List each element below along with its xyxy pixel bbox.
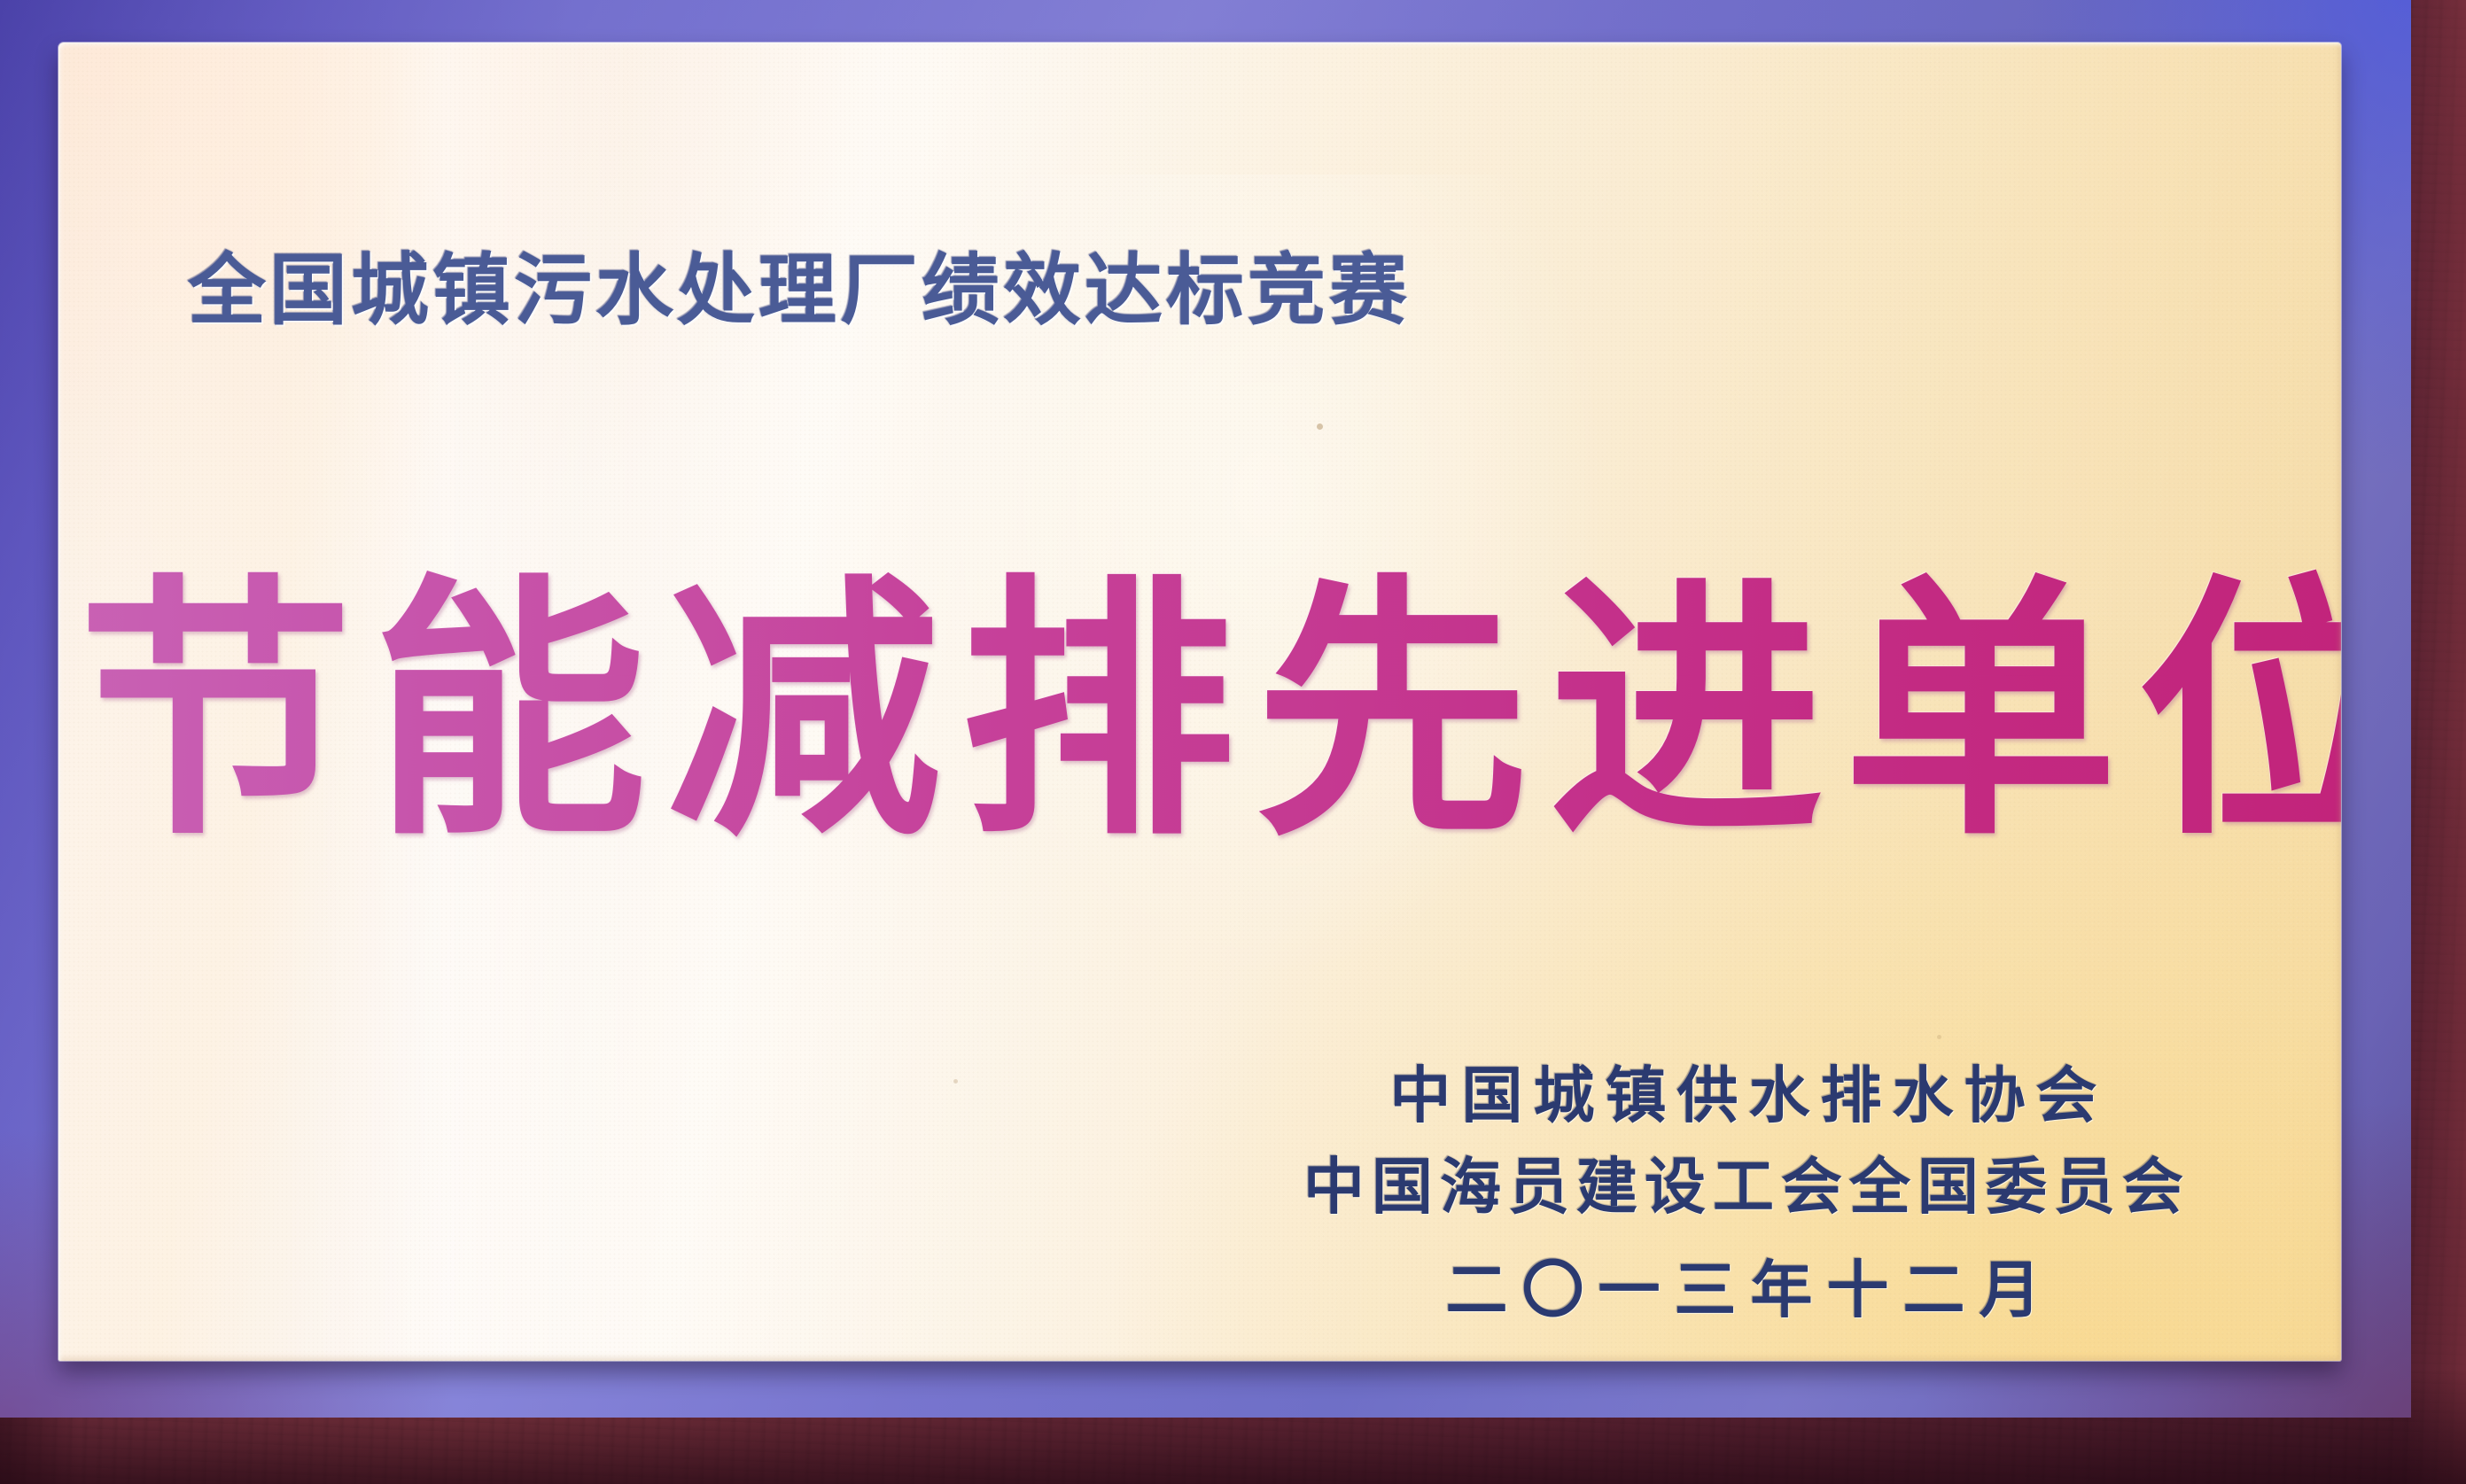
award-plaque: 全国城镇污水处理厂绩效达标竞赛 节能减排先进单位 中国城镇供水排水协会 中国海员…: [0, 0, 2466, 1484]
issuer-organization-primary: 中国城镇供水排水协会: [1296, 1060, 2190, 1131]
plaque-content: 全国城镇污水处理厂绩效达标竞赛 节能减排先进单位 中国城镇供水排水协会 中国海员…: [58, 43, 2341, 1361]
surface-speck: [1937, 1035, 1941, 1039]
issuer-signature-block: 中国城镇供水排水协会 中国海员建设工会全国委员会 二〇一三年十二月: [1296, 1060, 2190, 1326]
surface-speck: [953, 1079, 958, 1084]
frame-right-highlight: [2404, 0, 2466, 1484]
certificate-plate: 全国城镇污水处理厂绩效达标竞赛 节能减排先进单位 中国城镇供水排水协会 中国海员…: [58, 43, 2341, 1361]
issue-date: 二〇一三年十二月: [1296, 1254, 2190, 1327]
competition-header: 全国城镇污水处理厂绩效达标竞赛: [188, 252, 1411, 330]
award-title: 节能减排先进单位: [58, 567, 2341, 859]
issuer-organization-secondary: 中国海员建设工会全国委员会: [1296, 1151, 2190, 1223]
surface-speck: [1317, 423, 1323, 430]
